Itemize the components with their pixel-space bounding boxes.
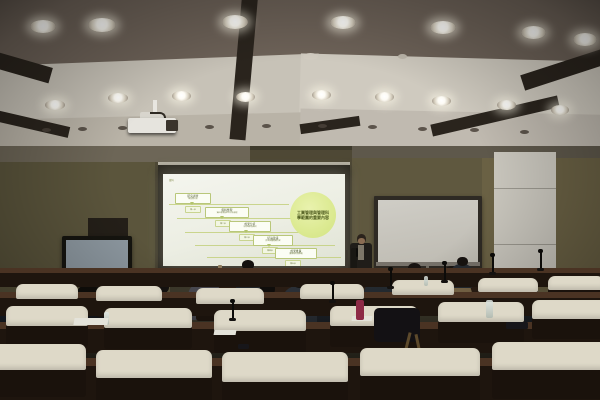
seat-cushion [104, 308, 192, 328]
shoulder-bag [374, 308, 420, 342]
audience-area [0, 0, 600, 400]
seat-cushion [222, 352, 348, 382]
handout-paper [73, 318, 108, 325]
water-bottle [486, 300, 493, 318]
desk-microphone [444, 264, 446, 280]
microphone-base [537, 268, 544, 271]
desk-microphone [540, 252, 542, 268]
seat-cushion [96, 350, 212, 378]
desk-microphone [332, 284, 334, 300]
desk-microphone [232, 302, 234, 318]
tablet-device [506, 322, 528, 329]
desk-microphone [390, 270, 392, 286]
seat-cushion [0, 344, 86, 370]
seat-cushion [438, 302, 524, 322]
thermos-flask [356, 300, 364, 320]
water-bottle [424, 276, 428, 286]
seat-cushion [214, 310, 306, 331]
microphone-base [329, 300, 336, 303]
microphone-base [441, 280, 448, 283]
seat-cushion [360, 348, 480, 376]
handout-paper [214, 330, 237, 335]
seat-cushion [532, 300, 600, 319]
microphone-base [489, 272, 496, 275]
microphone-base [387, 286, 394, 289]
tablet-device [238, 344, 249, 349]
microphone-base [229, 318, 236, 321]
desk-microphone [492, 256, 494, 272]
seat-cushion [492, 342, 600, 370]
conference-hall-photo: 資料 研究調查 調查與分析 第一步 資料整理 資料收集與統計分析處理 第二步 成… [0, 0, 600, 400]
